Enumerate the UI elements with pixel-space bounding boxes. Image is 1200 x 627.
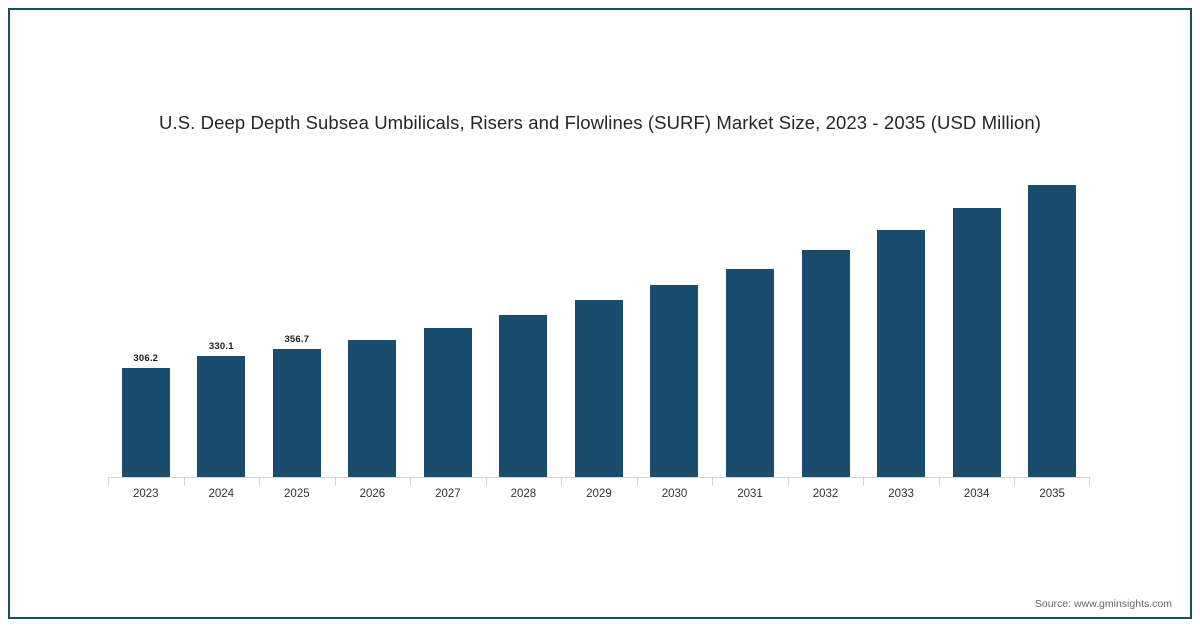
bar-2032[interactable]: [802, 250, 850, 478]
bar-slot: [939, 172, 1015, 478]
x-axis-label-2025: 2025: [259, 488, 335, 500]
x-axis-tick-marks: [108, 478, 1090, 486]
bar-slot: [561, 172, 637, 478]
bar-slot: [788, 172, 864, 478]
bar-slot: [410, 172, 486, 478]
bar-value-label-2023: 306.2: [133, 353, 158, 364]
tick-mark-2030: [637, 478, 638, 486]
tick-mark-2026: [335, 478, 336, 486]
bar-series: 306.2330.1356.7: [108, 172, 1090, 478]
bar-2035[interactable]: [1028, 185, 1076, 478]
x-axis-label-2028: 2028: [486, 488, 562, 500]
x-axis-label-2024: 2024: [184, 488, 260, 500]
bar-slot: 356.7: [259, 172, 335, 478]
tick-mark-2025: [259, 478, 260, 486]
tick-cell: [788, 478, 864, 486]
tick-cell: [410, 478, 486, 486]
bar-2024[interactable]: 330.1: [197, 356, 245, 478]
tick-cell: [1014, 478, 1090, 486]
tick-mark-2024: [184, 478, 185, 486]
bar-value-label-2025: 356.7: [284, 334, 309, 345]
x-axis-label-2031: 2031: [712, 488, 788, 500]
tick-cell: [184, 478, 260, 486]
bar-slot: [486, 172, 562, 478]
bar-slot: [637, 172, 713, 478]
tick-cell: [259, 478, 335, 486]
x-axis-label-2026: 2026: [335, 488, 411, 500]
bar-slot: [335, 172, 411, 478]
x-axis-label-2029: 2029: [561, 488, 637, 500]
tick-mark-2028: [486, 478, 487, 486]
tick-mark-2032: [788, 478, 789, 486]
x-axis-label-2033: 2033: [863, 488, 939, 500]
x-axis-labels: 2023202420252026202720282029203020312032…: [108, 488, 1090, 500]
bar-2025[interactable]: 356.7: [273, 349, 321, 478]
plot-area: 306.2330.1356.7: [108, 172, 1090, 478]
tick-cell: [486, 478, 562, 486]
bar-slot: [863, 172, 939, 478]
x-axis-label-2032: 2032: [788, 488, 864, 500]
tick-mark-2035: [1014, 478, 1015, 486]
bar-2027[interactable]: [424, 328, 472, 478]
tick-cell: [561, 478, 637, 486]
tick-mark-end: [1089, 478, 1090, 486]
bar-2028[interactable]: [499, 315, 547, 478]
tick-mark-2027: [410, 478, 411, 486]
bar-2034[interactable]: [953, 208, 1001, 478]
tick-mark-2031: [712, 478, 713, 486]
tick-mark-2033: [863, 478, 864, 486]
x-axis-label-2027: 2027: [410, 488, 486, 500]
tick-cell: [712, 478, 788, 486]
tick-cell: [863, 478, 939, 486]
bar-slot: [712, 172, 788, 478]
chart-figure: U.S. Deep Depth Subsea Umbilicals, Riser…: [0, 0, 1200, 627]
bar-2030[interactable]: [650, 285, 698, 478]
chart-title: U.S. Deep Depth Subsea Umbilicals, Riser…: [0, 112, 1200, 134]
x-axis-label-2034: 2034: [939, 488, 1015, 500]
tick-mark-2034: [939, 478, 940, 486]
bar-slot: 306.2: [108, 172, 184, 478]
tick-cell: [637, 478, 713, 486]
bar-2029[interactable]: [575, 300, 623, 478]
x-axis-label-2035: 2035: [1014, 488, 1090, 500]
bar-2023[interactable]: 306.2: [122, 368, 170, 478]
bar-value-label-2024: 330.1: [209, 341, 234, 352]
bar-2031[interactable]: [726, 269, 774, 478]
x-axis-label-2030: 2030: [637, 488, 713, 500]
tick-cell: [939, 478, 1015, 486]
bar-slot: [1014, 172, 1090, 478]
tick-cell: [335, 478, 411, 486]
tick-mark-2029: [561, 478, 562, 486]
x-axis-label-2023: 2023: [108, 488, 184, 500]
source-attribution: Source: www.gminsights.com: [1035, 598, 1172, 610]
tick-mark-2023: [108, 478, 109, 486]
bar-slot: 330.1: [184, 172, 260, 478]
bar-2026[interactable]: [348, 340, 396, 478]
bar-2033[interactable]: [877, 230, 925, 478]
tick-cell: [108, 478, 184, 486]
